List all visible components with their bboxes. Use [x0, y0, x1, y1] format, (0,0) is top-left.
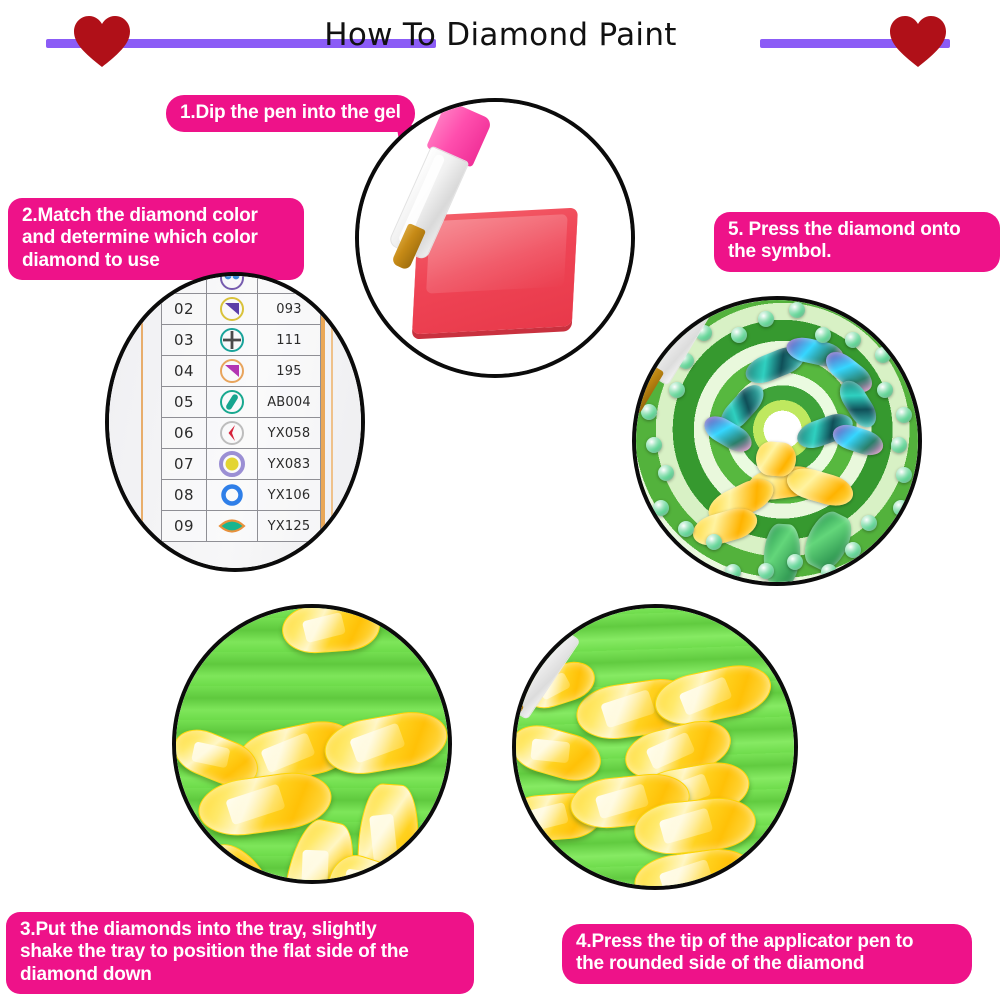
legend-row-code: 195 [258, 356, 321, 387]
dot-in-ring-circle-icon [207, 450, 257, 478]
legend-row-symbol-cell [207, 387, 258, 418]
step-3-line-3: diamond down [20, 964, 460, 986]
step-5-label: 5. Press the diamond onto the symbol. [714, 212, 1000, 272]
canvas-gem-round [815, 327, 831, 343]
step-2-line-1: 2.Match the diamond color [22, 205, 290, 227]
canvas-gem-round [893, 500, 909, 516]
legend-row-number: 01 [162, 276, 207, 294]
legend-row: 07 YX083 [162, 449, 321, 480]
canvas-gem-round [861, 515, 877, 531]
canvas-gem-round [845, 542, 861, 558]
canvas-gem-round [789, 302, 805, 318]
step-1-label: 1.Dip the pen into the gel [166, 95, 415, 132]
legend-row: 04 195 [162, 356, 321, 387]
chart-margin-line [331, 276, 333, 568]
legend-row-symbol-cell [207, 325, 258, 356]
legend-row: 01 020 [162, 276, 321, 294]
canvas-gem-round [821, 564, 837, 580]
legend-row: 02 093 [162, 294, 321, 325]
step-3-line-1: 3.Put the diamonds into the tray, slight… [20, 919, 460, 941]
legend-row-number: 07 [162, 449, 207, 480]
canvas-gem-round [725, 564, 741, 580]
step-1-photo-pen-in-gel [355, 98, 635, 378]
page-title: How To Diamond Paint [0, 17, 1001, 53]
canvas-gem-yellow-petal [755, 441, 797, 478]
canvas-gem-round [896, 467, 912, 483]
plus-cross-circle-icon [207, 326, 257, 354]
legend-row-symbol-cell [207, 294, 258, 325]
legend-row-code: YX106 [258, 480, 321, 511]
leaf-marquise-icon [207, 512, 257, 540]
legend-row: 03 111 [162, 325, 321, 356]
canvas-gem-marquise [830, 421, 887, 460]
step-1-line-1: 1.Dip the pen into the gel [180, 102, 401, 124]
step-5-line-1: 5. Press the diamond onto [728, 219, 986, 241]
chart-margin-line [321, 276, 325, 568]
step-2-photo-color-chart: 01 02002 09303 11104 19505 AB00406 YX058… [105, 272, 365, 572]
step-3-label: 3.Put the diamonds into the tray, slight… [6, 912, 474, 994]
canvas-gem-round [653, 500, 669, 516]
legend-row-code: YX083 [258, 449, 321, 480]
step-4-label: 4.Press the tip of the applicator pen to… [562, 924, 972, 984]
purple-double-dot-circle-icon [207, 276, 257, 292]
open-ring-circle-icon [207, 481, 257, 509]
legend-row-number: 02 [162, 294, 207, 325]
legend-row-symbol-cell [207, 449, 258, 480]
canvas-gem-round [787, 554, 803, 570]
diamond-color-legend-table: 01 02002 09303 11104 19505 AB00406 YX058… [161, 276, 321, 542]
canvas-gem-round [891, 437, 907, 453]
canvas-gem-round [678, 521, 694, 537]
canvas-gem-round [758, 563, 774, 579]
chart-margin-line [141, 276, 143, 568]
canvas-gem-round [658, 465, 674, 481]
legend-row-code: YX125 [258, 511, 321, 542]
diagonal-capsule-circle-icon [207, 388, 257, 416]
canvas-gem-round [877, 382, 893, 398]
legend-row-code: 093 [258, 294, 321, 325]
step-2-label: 2.Match the diamond color and determine … [8, 198, 304, 280]
step-3-photo-diamonds-in-tray [172, 604, 452, 884]
legend-row-number: 06 [162, 418, 207, 449]
canvas-gem-round [896, 407, 912, 423]
legend-row-symbol-cell [207, 511, 258, 542]
legend-row-code: AB004 [258, 387, 321, 418]
legend-row-symbol-cell [207, 418, 258, 449]
legend-row: 09YX125 [162, 511, 321, 542]
left-chevron-circle-icon [207, 419, 257, 447]
canvas-gem-round [731, 327, 747, 343]
step-4-photo-pen-pressing-diamond [512, 604, 798, 890]
header: How To Diamond Paint [0, 0, 1001, 80]
legend-row-code: 111 [258, 325, 321, 356]
canvas-gem-round [646, 437, 662, 453]
canvas-gem-round [845, 332, 861, 348]
filled-triangle-circle-icon [207, 357, 257, 385]
step-2-line-2: and determine which color [22, 227, 290, 249]
poster-root: How To Diamond Paint 1.Dip the pen into … [0, 0, 1001, 1001]
legend-row-number: 05 [162, 387, 207, 418]
legend-row: 06 YX058 [162, 418, 321, 449]
legend-row-symbol-cell [207, 356, 258, 387]
legend-row-code: YX058 [258, 418, 321, 449]
legend-row: 05 AB004 [162, 387, 321, 418]
step-5-line-2: the symbol. [728, 241, 986, 263]
step-3-line-2: shake the tray to position the flat side… [20, 941, 460, 963]
legend-row: 08YX106 [162, 480, 321, 511]
step-5-photo-canvas-mandala [632, 296, 922, 586]
legend-row-symbol-cell [207, 276, 258, 294]
step-2-line-3: diamond to use [22, 250, 290, 272]
canvas-gem-yellow-petal [689, 503, 761, 550]
legend-row-number: 03 [162, 325, 207, 356]
canvas-gem-round [875, 347, 891, 363]
legend-row-number: 09 [162, 511, 207, 542]
canvas-gem-yellow-petal [783, 463, 857, 511]
legend-row-symbol-cell [207, 480, 258, 511]
step-4-line-2: the rounded side of the diamond [576, 953, 958, 975]
legend-row-code: 020 [258, 276, 321, 294]
canvas-gem-round [706, 534, 722, 550]
legend-row-number: 08 [162, 480, 207, 511]
legend-row-number: 04 [162, 356, 207, 387]
step-4-line-1: 4.Press the tip of the applicator pen to [576, 931, 958, 953]
filled-triangle-circle-icon [207, 295, 257, 323]
canvas-gem-round [758, 311, 774, 327]
